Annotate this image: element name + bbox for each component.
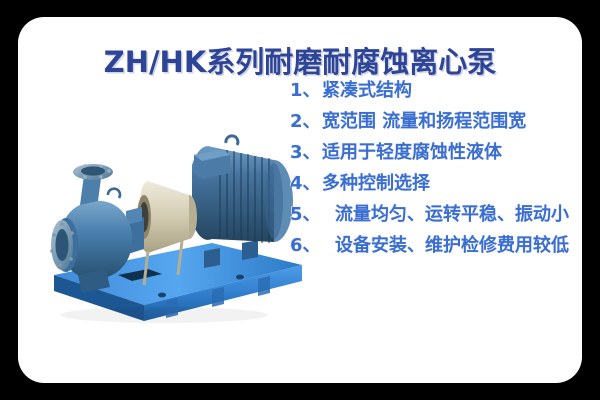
list-item-label: 紧凑式结构: [322, 77, 582, 104]
list-item-number: 6、: [290, 232, 322, 259]
list-item: 1、 紧凑式结构: [290, 77, 582, 104]
feature-list: 1、 紧凑式结构 2、 宽范围 流量和扬程范围宽 3、 适用于轻度腐蚀性液体 4…: [290, 77, 582, 263]
product-photo-centrifugal-pump: [44, 125, 306, 325]
list-item-label: 宽范围 流量和扬程范围宽: [322, 108, 582, 135]
list-item-label: 流量均匀、运转平稳、振动小: [322, 201, 582, 228]
list-item-number: 1、: [290, 77, 322, 104]
list-item-label: 设备安装、维护检修费用较低: [322, 232, 582, 259]
product-card: ZH/HK系列耐磨耐腐蚀离心泵: [18, 17, 582, 383]
pump-illustration: [44, 125, 306, 325]
list-item-label: 多种控制选择: [322, 170, 582, 197]
list-item-label: 适用于轻度腐蚀性液体: [322, 139, 582, 166]
list-item-number: 4、: [290, 170, 322, 197]
screenshot-root: ZH/HK系列耐磨耐腐蚀离心泵: [0, 0, 600, 400]
list-item: 4、 多种控制选择: [290, 170, 582, 197]
list-item: 3、 适用于轻度腐蚀性液体: [290, 139, 582, 166]
list-item: 6、 设备安装、维护检修费用较低: [290, 232, 582, 259]
list-item-number: 3、: [290, 139, 322, 166]
page-title: ZH/HK系列耐磨耐腐蚀离心泵: [18, 39, 582, 81]
list-item: 2、 宽范围 流量和扬程范围宽: [290, 108, 582, 135]
list-item: 5、 流量均匀、运转平稳、振动小: [290, 201, 582, 228]
list-item-number: 2、: [290, 108, 322, 135]
list-item-number: 5、: [290, 201, 322, 228]
